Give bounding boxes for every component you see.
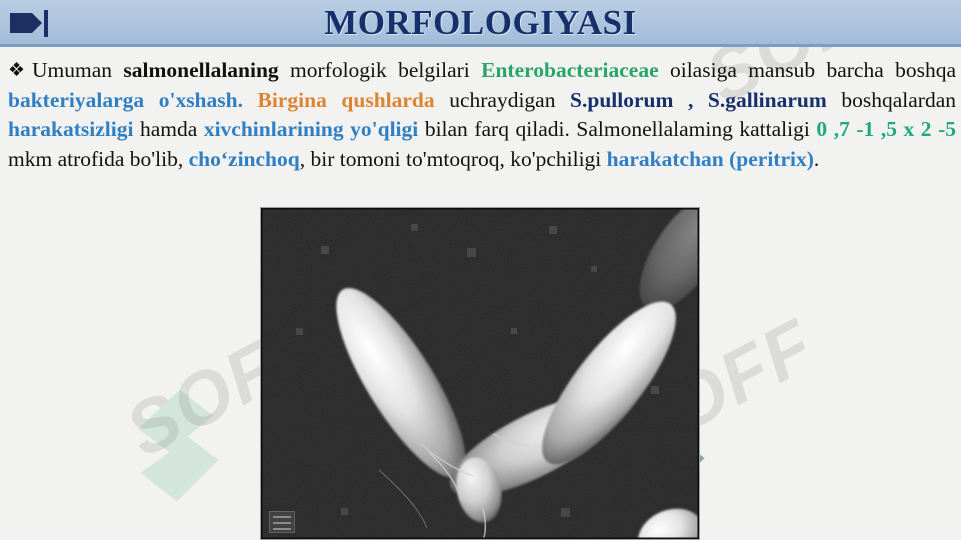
page-title: MORFOLOGIYASI — [0, 1, 961, 45]
run-13-xivchinlarining-yoqligi: xivchinlarining yo'qligi — [204, 117, 418, 141]
salmonella-micrograph-image — [260, 207, 700, 540]
run-0: Umuman — [32, 58, 123, 82]
run-17-chozinchoq: cho‘zinchoq — [189, 147, 300, 171]
run-18: , bir tomoni to'mtoqroq, ko'pchiligi — [300, 147, 607, 171]
run-16: mkm atrofida bo'lib, — [8, 147, 189, 171]
run-7-birgina-qushlarda: Birgina qushlarda — [258, 88, 435, 112]
slide-body-text: ❖Umuman salmonellalaning morfologik belg… — [8, 56, 956, 174]
run-11-harakatsizligi: harakatsizligi — [8, 117, 133, 141]
micrograph-scale-bar — [269, 511, 295, 533]
run-1: salmonellalaning — [123, 58, 278, 82]
run-9-species-names: S.pullorum , S.gallinarum — [570, 88, 827, 112]
bullet-icon: ❖ — [8, 56, 32, 86]
run-5-bakteriyalarga: bakteriyalarga o'xshash. — [8, 88, 243, 112]
run-20: . — [814, 147, 819, 171]
run-8: uchraydigan — [435, 88, 570, 112]
run-14: bilan farq qiladi. Salmonellalaming katt… — [418, 117, 816, 141]
watermark-logo-left — [112, 382, 242, 517]
run-3-enterobacteriaceae: Enterobacteriaceae — [481, 58, 659, 82]
skip-forward-icon[interactable] — [6, 4, 50, 42]
run-10: boshqalardan — [827, 88, 956, 112]
run-4: oilasiga mansub barcha boshqa — [659, 58, 956, 82]
slide-header-bar: MORFOLOGIYASI — [0, 0, 961, 47]
run-15-dimensions: 0 ,7 -1 ,5 x 2 -5 — [816, 117, 956, 141]
run-19-harakatchan-peritrix: harakatchan (peritrix) — [607, 147, 814, 171]
run-2: morfologik belgilari — [279, 58, 481, 82]
body-paragraph: ❖Umuman salmonellalaning morfologik belg… — [8, 56, 956, 174]
run-12: hamda — [133, 117, 203, 141]
run-6 — [243, 88, 258, 112]
slide-canvas: SOFF SOFF SOFF MORFOLOGIYASI ❖Umuman sal… — [0, 0, 961, 540]
